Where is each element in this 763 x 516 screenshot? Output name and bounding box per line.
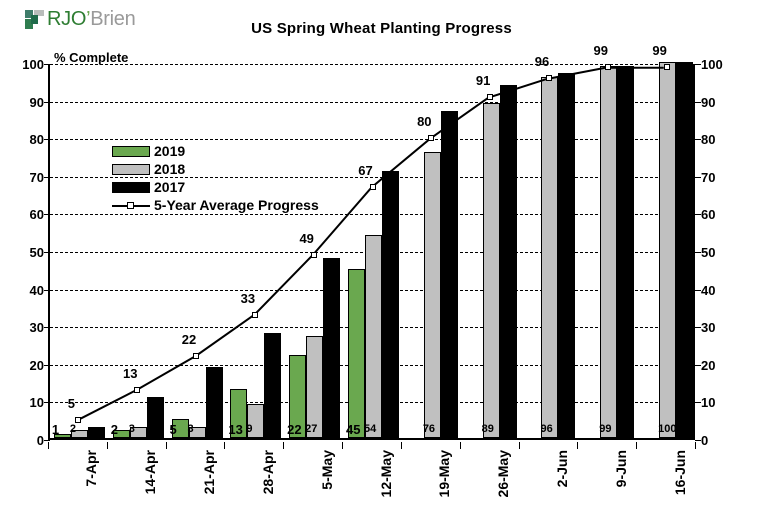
legend-item-2017[interactable]: 2017 (112, 178, 342, 196)
line-value-label-19-May: 80 (417, 115, 431, 128)
line-value-label-9-Jun: 99 (594, 44, 608, 57)
y-axis-tick-label-left: 0 (8, 434, 44, 447)
plot-area: 1223531392227455476899699100 51322334967… (48, 64, 695, 440)
y-axis-tick-label-left: 70 (8, 171, 44, 184)
y-axis-tick-label-left: 50 (8, 246, 44, 259)
legend-line-icon (112, 200, 150, 211)
legend-label: 5-Year Average Progress (154, 198, 319, 212)
x-axis-tick (519, 442, 520, 449)
legend-label: 2017 (154, 180, 185, 194)
x-axis-tick (107, 442, 108, 449)
x-axis-label-19-May: 19-May (437, 450, 451, 497)
y-axis-left-labels: 0102030405060708090100 (4, 64, 44, 440)
line-value-label-26-May: 91 (476, 74, 490, 87)
y-axis-right-ticks (695, 64, 703, 440)
x-axis-tick (577, 442, 578, 449)
x-axis-tick (224, 442, 225, 449)
x-axis-tick (342, 442, 343, 449)
legend-item-5-year-average-progress[interactable]: 5-Year Average Progress (112, 196, 342, 214)
line-marker-2-Jun[interactable] (546, 75, 552, 81)
line-value-label-2-Jun: 96 (535, 55, 549, 68)
line-marker-28-Apr[interactable] (252, 312, 258, 318)
y-axis-tick-label-left: 100 (8, 58, 44, 71)
line-marker-26-May[interactable] (487, 94, 493, 100)
x-axis-tick (695, 442, 696, 449)
legend-item-2019[interactable]: 2019 (112, 142, 342, 160)
y-axis-tick-label-left: 10 (8, 396, 44, 409)
y-axis-tick-label-left: 90 (8, 96, 44, 109)
y-axis-tick (695, 214, 701, 215)
x-axis-tick (401, 442, 402, 449)
y-axis-tick (695, 252, 701, 253)
y-axis-tick-label-left: 80 (8, 133, 44, 146)
line-value-label-28-Apr: 33 (241, 292, 255, 305)
y-axis-tick-label-left: 40 (8, 284, 44, 297)
line-value-label-14-Apr: 13 (123, 367, 137, 380)
y-axis-tick-label-right: 30 (701, 321, 741, 334)
line-value-label-16-Jun: 99 (652, 44, 666, 57)
line-marker-16-Jun[interactable] (664, 64, 670, 70)
x-axis-tick (48, 442, 49, 449)
line-marker-21-Apr[interactable] (193, 353, 199, 359)
y-axis-tick-label-right: 60 (701, 208, 741, 221)
legend: 2019201820175-Year Average Progress (112, 142, 342, 214)
line-marker-9-Jun[interactable] (605, 64, 611, 70)
line-marker-7-Apr[interactable] (75, 417, 81, 423)
legend-swatch-icon (112, 182, 150, 193)
y-axis-caption: % Complete (54, 50, 128, 65)
x-axis-tick (636, 442, 637, 449)
x-axis-label-16-Jun: 16-Jun (673, 450, 687, 495)
line-value-label-5-May: 49 (299, 232, 313, 245)
y-axis-tick-label-right: 0 (701, 434, 741, 447)
y-axis-tick-label-right: 50 (701, 246, 741, 259)
y-axis-tick (695, 177, 701, 178)
y-axis-tick (695, 139, 701, 140)
y-axis-tick-label-right: 40 (701, 284, 741, 297)
y-axis-tick (695, 365, 701, 366)
y-axis-tick (695, 440, 701, 441)
x-axis-label-5-May: 5-May (320, 450, 334, 490)
y-axis-tick (44, 440, 50, 441)
line-value-label-7-Apr: 5 (68, 397, 75, 410)
line-marker-19-May[interactable] (428, 135, 434, 141)
line-value-label-21-Apr: 22 (182, 333, 196, 346)
x-axis-labels: 7-Apr14-Apr21-Apr28-Apr5-May12-May19-May… (48, 442, 695, 516)
y-axis-tick-label-left: 20 (8, 359, 44, 372)
y-axis-tick-label-right: 20 (701, 359, 741, 372)
x-axis-tick (460, 442, 461, 449)
line-value-label-12-May: 67 (358, 164, 372, 177)
x-axis-label-7-Apr: 7-Apr (84, 450, 98, 487)
legend-swatch-icon (112, 164, 150, 175)
x-axis-label-2-Jun: 2-Jun (555, 450, 569, 487)
y-axis-tick-label-left: 60 (8, 208, 44, 221)
x-axis-tick (283, 442, 284, 449)
y-axis-tick-label-right: 90 (701, 96, 741, 109)
y-axis-tick-label-right: 100 (701, 58, 741, 71)
x-axis-label-9-Jun: 9-Jun (614, 450, 628, 487)
legend-swatch-icon (112, 146, 150, 157)
y-axis-right-labels: 0102030405060708090100 (701, 64, 747, 440)
legend-label: 2018 (154, 162, 185, 176)
x-axis-label-21-Apr: 21-Apr (202, 450, 216, 494)
legend-item-2018[interactable]: 2018 (112, 160, 342, 178)
y-axis-tick (695, 402, 701, 403)
chart-title: US Spring Wheat Planting Progress (0, 20, 763, 37)
x-axis-label-14-Apr: 14-Apr (143, 450, 157, 494)
x-axis-tick (166, 442, 167, 449)
y-axis-tick-label-right: 80 (701, 133, 741, 146)
five-year-average-line (50, 64, 693, 438)
y-axis-tick-label-right: 10 (701, 396, 741, 409)
y-axis-tick (695, 64, 701, 65)
y-axis-tick (695, 327, 701, 328)
x-axis-label-12-May: 12-May (379, 450, 393, 497)
y-axis-tick-label-right: 70 (701, 171, 741, 184)
chart-header: RJO’Brien US Spring Wheat Planting Progr… (0, 0, 763, 48)
y-axis-tick (695, 290, 701, 291)
legend-label: 2019 (154, 144, 185, 158)
line-marker-5-May[interactable] (311, 252, 317, 258)
y-axis-tick (695, 102, 701, 103)
y-axis-tick-label-left: 30 (8, 321, 44, 334)
line-marker-12-May[interactable] (370, 184, 376, 190)
line-marker-14-Apr[interactable] (134, 387, 140, 393)
x-axis-label-26-May: 26-May (496, 450, 510, 497)
x-axis-label-28-Apr: 28-Apr (261, 450, 275, 494)
